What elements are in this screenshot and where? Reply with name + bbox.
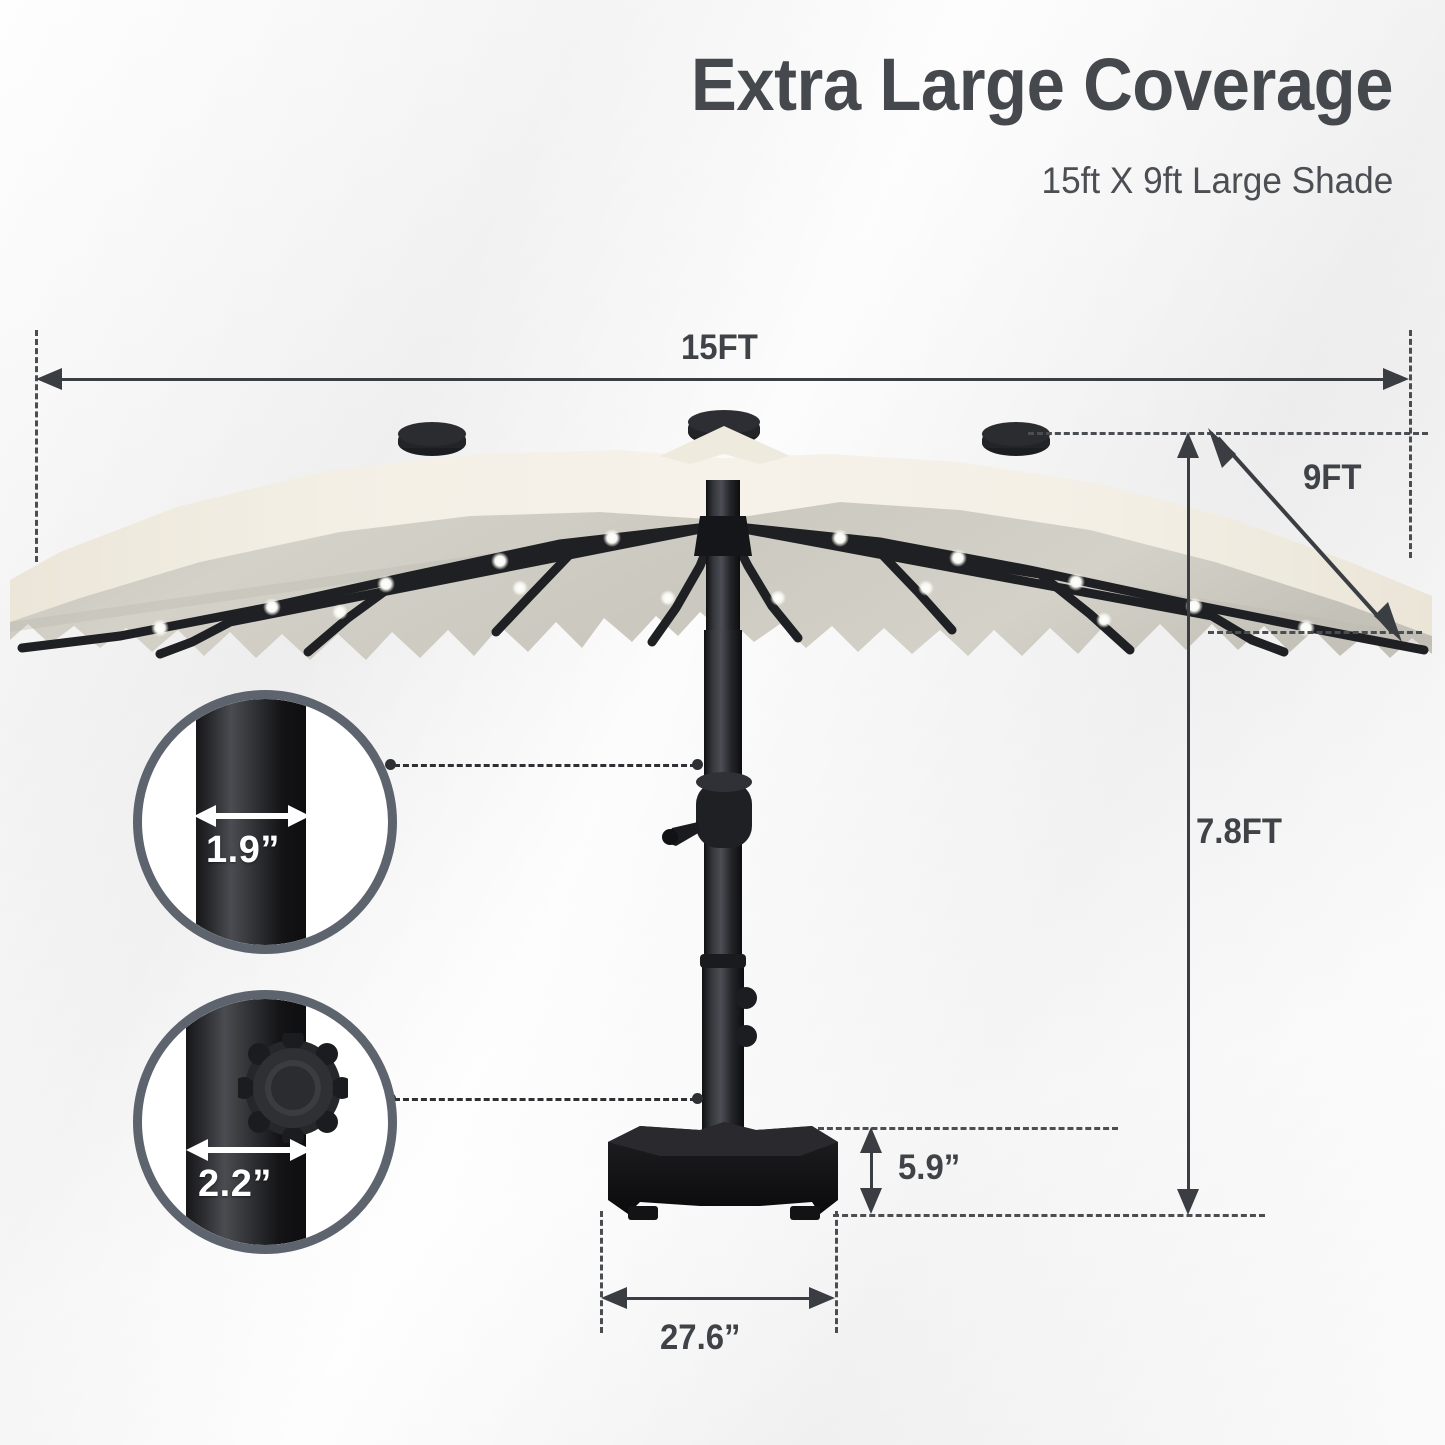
callout-pole-image: 1.9” bbox=[142, 699, 388, 945]
height-arrow-top bbox=[1177, 432, 1199, 458]
depth-dimension-label: 9FT bbox=[1303, 458, 1362, 498]
base-height-arrow-top bbox=[860, 1127, 882, 1153]
width-arrow-left bbox=[36, 368, 62, 390]
width-guide-left bbox=[35, 330, 38, 562]
depth-dimension-arrow bbox=[1180, 420, 1430, 650]
height-dimension-label: 7.8FT bbox=[1196, 812, 1282, 852]
width-arrow-right bbox=[1383, 368, 1409, 390]
callout-knob-leader-dot-end bbox=[692, 1093, 703, 1104]
base-height-arrow-bottom bbox=[860, 1188, 882, 1214]
width-dimension-label: 15FT bbox=[681, 328, 758, 368]
callout-knob-image: 2.2” bbox=[142, 999, 388, 1245]
base-height-label: 5.9” bbox=[898, 1148, 960, 1188]
pole-width-arrow-left bbox=[194, 805, 216, 827]
tightening-knob-icon bbox=[238, 1033, 348, 1143]
pole-width-arrow-right bbox=[288, 805, 310, 827]
base-width-guide-left bbox=[600, 1211, 603, 1333]
height-dimension-line bbox=[1187, 450, 1190, 1202]
height-arrow-bottom bbox=[1177, 1189, 1199, 1215]
base-width-guide-right bbox=[835, 1211, 838, 1333]
width-dimension-line bbox=[50, 378, 1398, 381]
base-width-arrow-right bbox=[809, 1287, 835, 1309]
infographic-canvas: Extra Large Coverage 15ft X 9ft Large Sh… bbox=[0, 0, 1445, 1445]
page-subtitle: 15ft X 9ft Large Shade bbox=[1041, 160, 1393, 202]
base-width-arrow-left bbox=[601, 1287, 627, 1309]
pole-diameter-label: 1.9” bbox=[206, 829, 280, 872]
ground-reference-line bbox=[833, 1214, 1265, 1217]
callout-pole-leader-line bbox=[394, 764, 696, 767]
callout-pole-leader-dot-end bbox=[692, 759, 703, 770]
callout-circle-knob-diameter: 2.2” bbox=[133, 990, 397, 1254]
callout-knob-leader-line bbox=[394, 1098, 696, 1101]
base-width-label: 27.6” bbox=[660, 1318, 740, 1358]
callout-circle-pole-diameter: 1.9” bbox=[133, 690, 397, 954]
base-width-dimension-line bbox=[614, 1297, 826, 1300]
knob-width-arrow-right bbox=[290, 1139, 312, 1161]
knob-width-arrow-line bbox=[200, 1147, 296, 1153]
pole-width-arrow-line bbox=[208, 813, 294, 819]
page-title: Extra Large Coverage bbox=[691, 48, 1393, 122]
knob-diameter-label: 2.2” bbox=[198, 1163, 272, 1206]
knob-width-arrow-left bbox=[186, 1139, 208, 1161]
